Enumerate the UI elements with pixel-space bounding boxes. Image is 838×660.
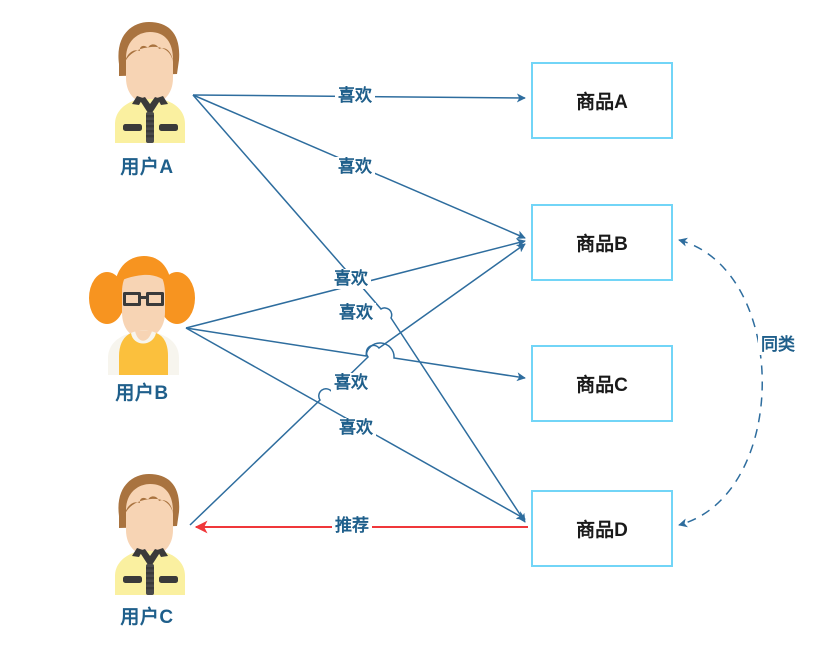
item-box-a-label: 商品A — [576, 87, 628, 114]
edge-label-userC-itemB: 喜欢 — [336, 418, 376, 438]
item-box-c-label: 商品C — [576, 370, 628, 397]
avatar-user-a — [93, 18, 201, 143]
avatar-user-b — [86, 250, 198, 375]
item-box-b-label: 商品B — [576, 229, 628, 256]
edge-label-similar: 同类 — [758, 335, 798, 355]
edge-label-userA-itemD: 喜欢 — [336, 303, 376, 323]
item-box-a[interactable]: 商品A — [531, 62, 673, 139]
edge-label-userA-itemB: 喜欢 — [335, 157, 375, 177]
edge-label-userA-itemA: 喜欢 — [335, 86, 375, 106]
user-label-b: 用户B — [90, 378, 194, 405]
edge-label-userB-itemC: 喜欢 — [331, 373, 371, 393]
diagram-canvas: 用户A 用户B 用户C 商品A 商品B 商品C 商品D 喜欢 喜欢 喜欢 喜欢 … — [0, 0, 838, 660]
edge-label-userB-itemB: 喜欢 — [331, 269, 371, 289]
edge-itemB-itemD-similar — [679, 240, 762, 525]
item-box-d[interactable]: 商品D — [531, 490, 673, 567]
item-box-d-label: 商品D — [576, 515, 628, 542]
avatar-user-c — [93, 470, 201, 595]
edge-userB-itemC — [186, 328, 525, 378]
user-label-c: 用户C — [95, 602, 199, 629]
item-box-b[interactable]: 商品B — [531, 204, 673, 281]
user-label-a: 用户A — [95, 152, 199, 179]
edge-label-recommend: 推荐 — [332, 516, 372, 536]
item-box-c[interactable]: 商品C — [531, 345, 673, 422]
